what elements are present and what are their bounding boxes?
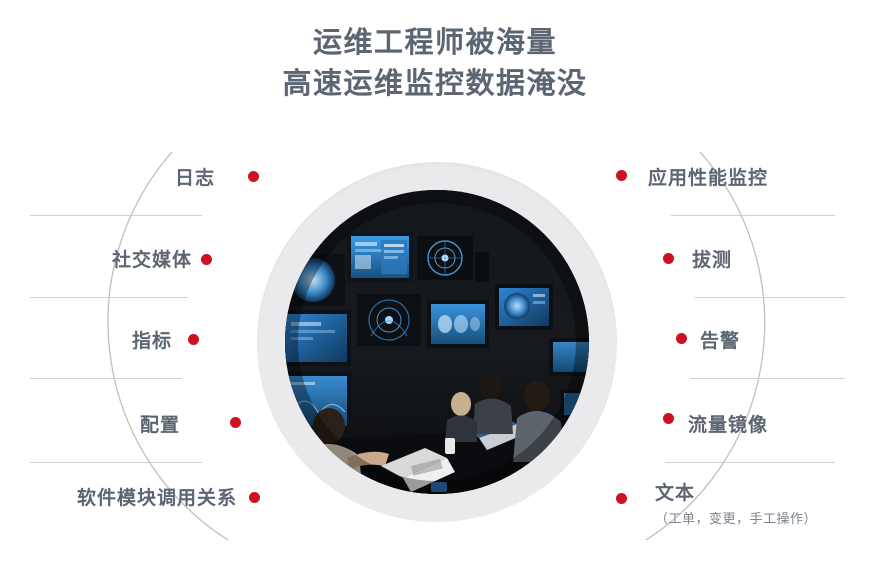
label-right-1[interactable]: 拔测 [692,245,842,272]
label-right-3[interactable]: 流量镜像 [688,410,858,437]
label-left-4-text: 软件模块调用关系 [77,487,237,509]
separator-right-1 [695,297,845,298]
label-right-2[interactable]: 告警 [700,326,850,353]
label-right-4-text: 文本 [655,482,695,504]
label-left-3-text: 配置 [140,414,180,436]
label-left-0[interactable]: 日志 [40,163,215,190]
label-right-4-subtext: （工单，变更，手工操作） [655,508,865,527]
label-left-3[interactable]: 配置 [30,410,180,437]
dot-right-2[interactable] [676,333,687,344]
separator-right-3 [665,462,835,463]
dot-left-4[interactable] [249,492,260,503]
separator-left-3 [30,462,202,463]
label-left-2[interactable]: 指标 [30,326,172,353]
separator-right-2 [690,378,845,379]
label-left-4[interactable]: 软件模块调用关系 [20,483,237,510]
dot-left-1[interactable] [201,254,212,265]
dot-left-2[interactable] [188,334,199,345]
dot-left-0[interactable] [248,171,259,182]
label-right-0-text: 应用性能监控 [648,167,768,189]
dot-right-0[interactable] [616,170,627,181]
title-line-1: 运维工程师被海量 [0,22,870,63]
label-right-0[interactable]: 应用性能监控 [648,163,858,190]
separator-left-0 [30,215,202,216]
label-left-1[interactable]: 社交媒体 [40,245,192,272]
label-left-0-text: 日志 [175,167,215,189]
title-line-2: 高速运维监控数据淹没 [0,63,870,104]
label-right-3-text: 流量镜像 [688,414,768,436]
separator-right-0 [671,215,835,216]
label-left-2-text: 指标 [132,330,172,352]
separator-left-2 [30,378,182,379]
separator-left-1 [30,297,188,298]
label-right-4[interactable]: 文本 （工单，变更，手工操作） [655,478,865,527]
dot-right-4[interactable] [616,493,627,504]
dot-right-3[interactable] [663,413,674,424]
label-left-1-text: 社交媒体 [112,249,192,271]
noc-photo [285,190,589,494]
label-right-2-text: 告警 [700,330,740,352]
dot-right-1[interactable] [663,253,674,264]
dot-left-3[interactable] [230,417,241,428]
label-right-1-text: 拔测 [692,249,732,271]
center-illustration [257,162,617,522]
page-title: 运维工程师被海量 高速运维监控数据淹没 [0,22,870,104]
